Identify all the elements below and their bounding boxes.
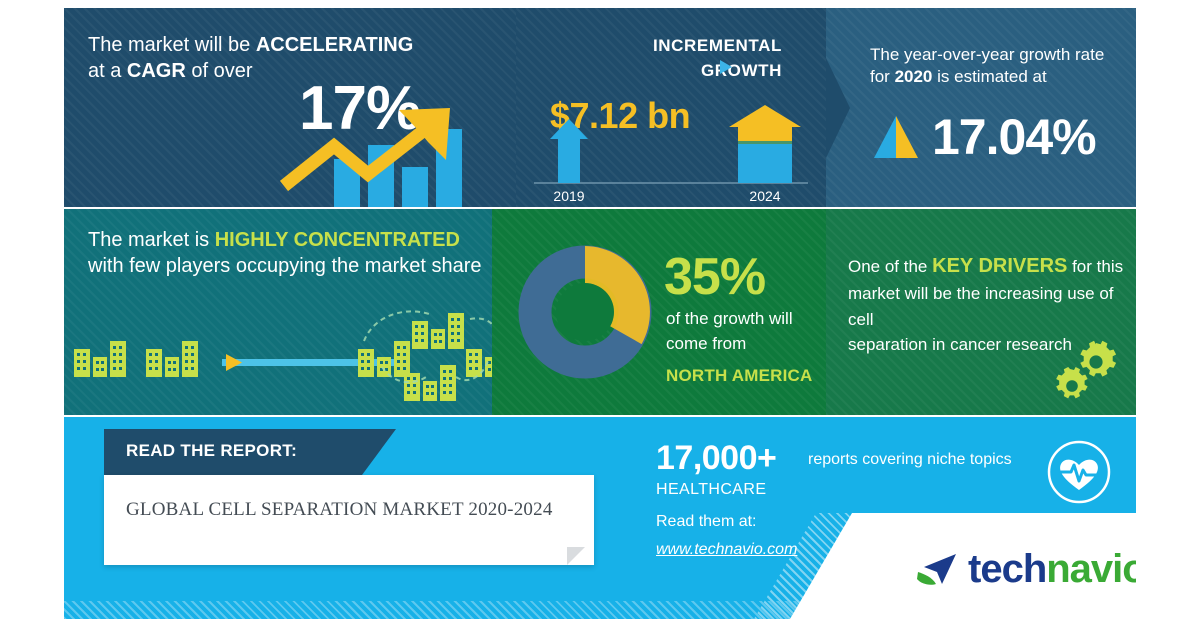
concentration-text-2: with few players occupying the market sh… [88,255,482,277]
incremental-label-line2: GROWTH [701,61,782,80]
yoy-value: 17.04% [932,108,1096,166]
cagr-accelerating: ACCELERATING [256,34,413,56]
yoy-year: 2020 [895,67,933,86]
year-label-start: 2019 [553,188,584,204]
infographic-frame: The market will be ACCELERATING at a CAG… [64,8,1136,619]
concentration-text-1: The market is [88,229,215,251]
logo-navio: navio [1046,547,1136,591]
na-sub-line2: come from [666,334,746,353]
yoy-description: The year-over-year growth rate for 2020 … [870,44,1120,89]
reports-count: 17,000+ [656,439,776,478]
infographic-page: The market will be ACCELERATING at a CAG… [0,0,1200,627]
panel-north-america-share: 35% of the growth will come from NORTH A… [492,209,826,415]
yoy-text-2: for [870,67,895,86]
panel-footer: READ THE REPORT: GLOBAL CELL SEPARATION … [64,417,1136,619]
report-title-card[interactable]: GLOBAL CELL SEPARATION MARKET 2020-2024 [104,475,594,565]
city-buildings-network-icon [64,301,492,415]
drivers-text-2: for this [1067,257,1123,276]
year-label-end: 2024 [749,188,780,204]
yoy-text-3: is estimated at [932,67,1046,86]
technavio-url-link[interactable]: www.technavio.com [656,541,797,559]
drivers-text-1: One of the [848,257,932,276]
play-triangle-icon [720,60,732,74]
triangle-up-icon [870,114,922,160]
donut-chart-icon [514,241,656,383]
sector-label: HEALTHCARE [656,481,766,499]
incremental-growth-label: INCREMENTAL GROWTH [534,34,782,83]
card-fold-corner [567,547,585,565]
north-america-subtext: of the growth will come from [666,307,822,356]
technavio-logo: technavio [914,547,1136,592]
panel-market-concentration: The market is HIGHLY CONCENTRATED with f… [64,209,492,415]
concentration-description: The market is HIGHLY CONCENTRATED with f… [88,227,488,280]
report-title: GLOBAL CELL SEPARATION MARKET 2020-2024 [126,499,576,521]
cagr-text-2: at a [88,60,127,82]
concentration-highlight: HIGHLY CONCENTRATED [215,229,460,251]
heart-pulse-icon [1046,439,1112,505]
panel-incremental-growth: INCREMENTAL GROWTH $7.12 bn 2019 2024 [516,8,826,207]
drivers-text-4: separation in cancer research [848,335,1072,354]
reports-count-caption: reports covering niche topics [808,451,1012,469]
panel-notch [826,58,850,158]
logo-tech: tech [968,547,1046,591]
cagr-text-3: of over [186,60,253,82]
technavio-wordmark: technavio [968,547,1136,592]
na-sub-line1: of the growth will [666,309,793,328]
drivers-highlight: KEY DRIVERS [932,255,1067,277]
north-america-region: NORTH AMERICA [666,365,812,387]
yoy-value-row: 17.04% [870,108,1096,166]
north-america-percent: 35% [664,243,765,312]
panel-cagr: The market will be ACCELERATING at a CAG… [64,8,516,207]
panel-yoy-growth: The year-over-year growth rate for 2020 … [826,8,1136,207]
read-them-at-label: Read them at: [656,513,757,531]
cagr-cagr: CAGR [127,60,186,82]
cagr-description: The market will be ACCELERATING at a CAG… [88,32,488,85]
technavio-arrow-icon [914,550,960,590]
incremental-label-line1: INCREMENTAL [653,36,782,55]
read-the-report-label: READ THE REPORT: [126,441,297,461]
gears-icon [1050,339,1122,405]
cagr-text-1: The market will be [88,34,256,56]
yoy-text-1: The year-over-year growth rate [870,45,1104,64]
panel-key-drivers: One of the KEY DRIVERS for this market w… [826,209,1136,415]
incremental-growth-bar-chart: 2019 2024 [516,103,826,207]
read-the-report-tab-corner [362,429,396,475]
growth-arrow-bar-chart-icon [260,108,516,207]
drivers-text-3: market will be the increasing use of cel… [848,284,1114,329]
